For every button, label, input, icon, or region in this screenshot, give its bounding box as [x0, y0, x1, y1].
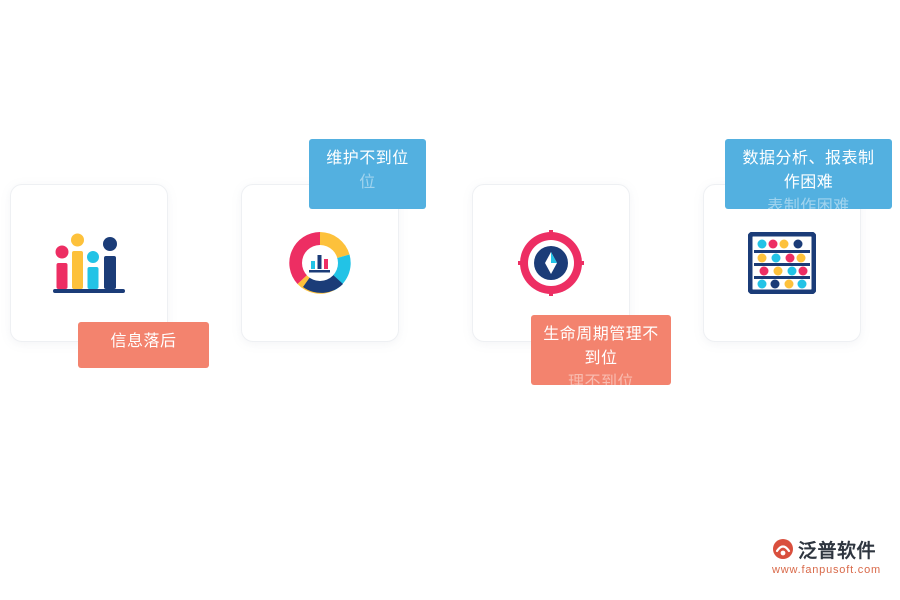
logo-text: 泛普软件	[798, 536, 876, 563]
label-card-2: 维护不到位 位	[309, 139, 426, 209]
fanpu-logo-mark-icon	[772, 538, 794, 560]
label-card-2-text: 维护不到位	[326, 150, 409, 167]
target-compass-icon	[513, 225, 589, 301]
label-card-2-ghost: 位	[319, 171, 416, 195]
label-card-1-text: 信息落后	[110, 333, 176, 350]
label-card-3: 生命周期管理不到位 理不到位	[531, 315, 671, 385]
feature-card-1[interactable]	[10, 184, 168, 342]
diagram-stage: 信息落后 维护不到位 位	[0, 0, 900, 600]
abacus-icon	[744, 225, 820, 301]
logo-url: www.fanpusoft.com	[772, 564, 892, 576]
bar-chart-people-icon	[51, 225, 127, 301]
brand-watermark: 泛普软件 www.fanpusoft.com	[772, 536, 892, 584]
label-card-1: 信息落后	[78, 322, 209, 368]
label-card-3-ghost: 理不到位	[541, 371, 661, 385]
label-card-4-ghost: 表制作困难	[735, 195, 882, 209]
pie-chart-donut-icon	[282, 225, 358, 301]
label-card-3-text: 生命周期管理不到位	[543, 326, 659, 367]
logo-row: 泛普软件	[772, 536, 892, 562]
label-card-4-text: 数据分析、报表制作困难	[742, 150, 874, 191]
label-card-4: 数据分析、报表制作困难 表制作困难	[725, 139, 892, 209]
